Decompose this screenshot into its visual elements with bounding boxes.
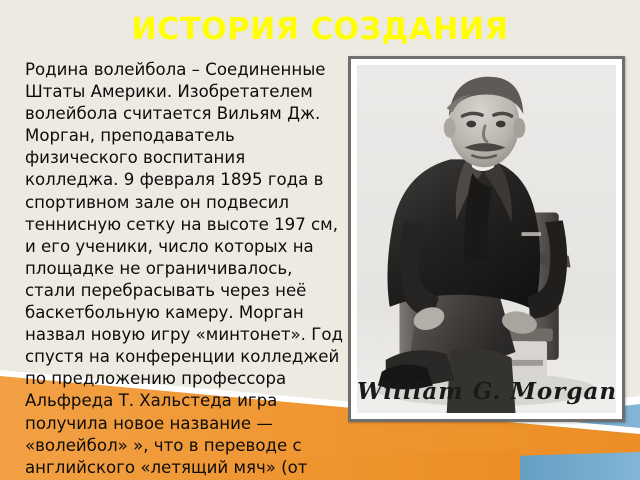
portrait-photo: William G. Morgan: [357, 65, 616, 413]
body-paragraph: Родина волейбола – Соединенные Штаты Аме…: [25, 59, 343, 480]
slide-title: ИСТОРИЯ СОЗДАНИЯ: [0, 13, 640, 47]
portrait-photo-image: [357, 65, 616, 413]
slide-body-text: Родина волейбола – Соединенные Штаты Аме…: [25, 59, 343, 480]
portrait-photo-frame: William G. Morgan: [348, 56, 625, 422]
presentation-slide: ИСТОРИЯ СОЗДАНИЯ Родина волейбола – Соед…: [0, 0, 640, 480]
photo-signature-caption: William G. Morgan: [357, 378, 616, 405]
